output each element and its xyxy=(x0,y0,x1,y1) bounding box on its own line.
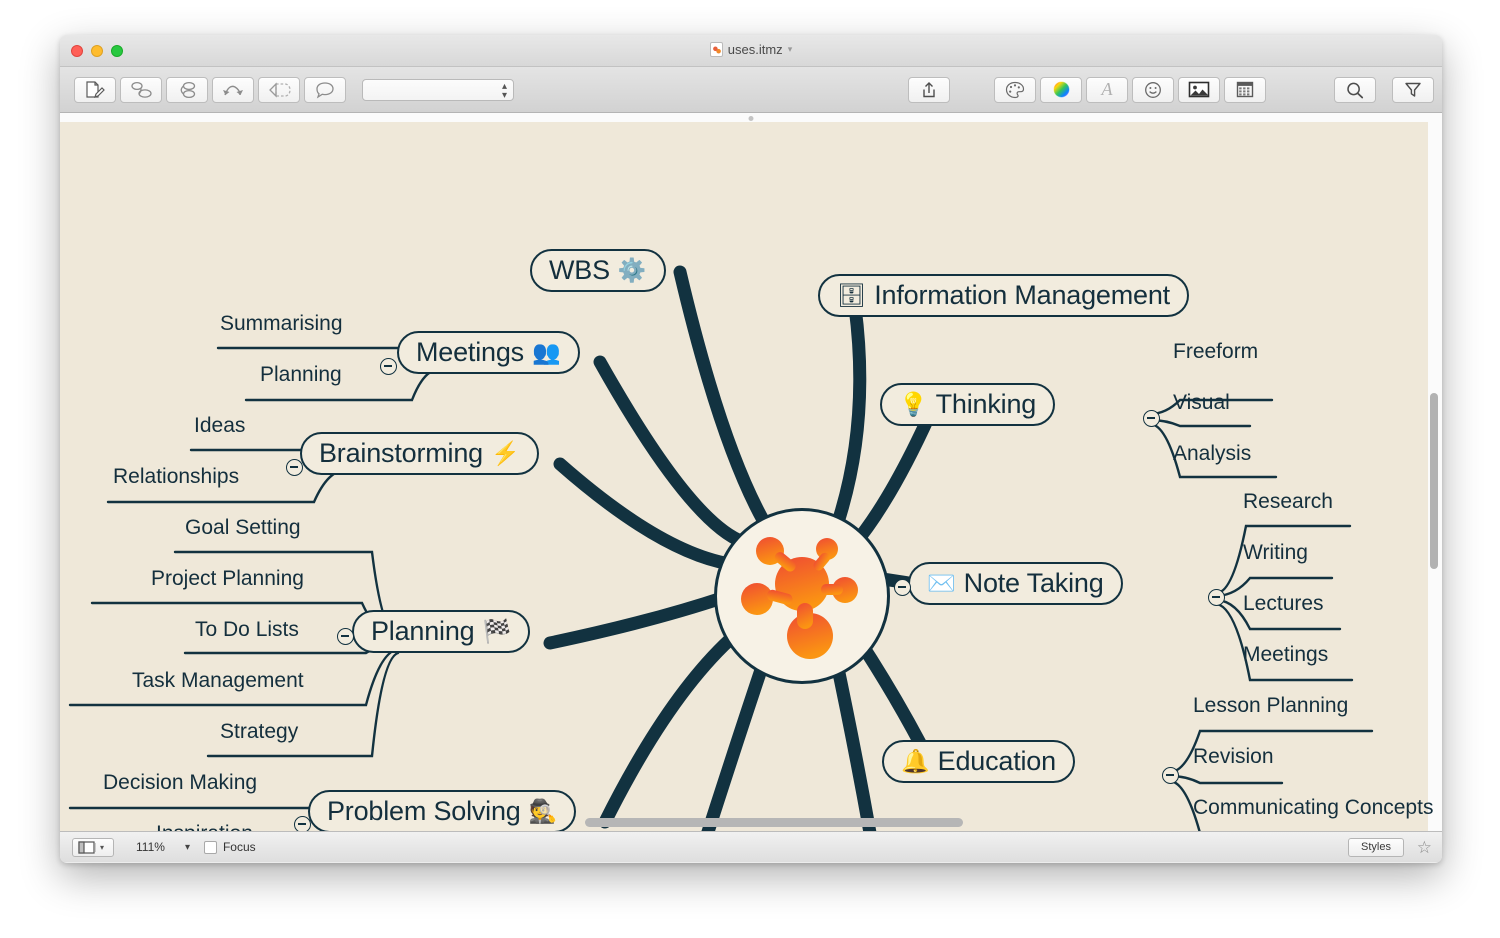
topic-node-planning[interactable]: Planning 🏁 xyxy=(352,610,530,653)
subtopic-goal-setting[interactable]: Goal Setting xyxy=(185,516,301,540)
subtopic-lectures[interactable]: Lectures xyxy=(1243,592,1324,616)
canvas-area[interactable]: WBS ⚙️ Meetings 👥 Summarising Planning B… xyxy=(60,113,1442,831)
topic-node-problem-solving[interactable]: Problem Solving 🕵 xyxy=(308,790,576,831)
topic-node-note-taking[interactable]: ✉️ Note Taking xyxy=(908,562,1123,605)
topic-node-brainstorming[interactable]: Brainstorming ⚡ xyxy=(300,432,539,475)
picture-icon xyxy=(1188,81,1210,98)
topic-label: Brainstorming xyxy=(319,438,483,469)
smiley-icon xyxy=(1144,81,1162,99)
font-a-icon: A xyxy=(1102,79,1113,100)
zoom-level[interactable]: 111% xyxy=(136,840,165,854)
colors-button[interactable] xyxy=(1040,77,1082,103)
collapse-toggle-thinking[interactable] xyxy=(1143,410,1160,427)
itmz-molecule-logo xyxy=(717,511,887,681)
palette-button[interactable] xyxy=(994,77,1036,103)
status-bar: ▾ 111% ▾ Focus Styles ☆ xyxy=(60,831,1442,862)
envelope-icon: ✉️ xyxy=(927,572,956,595)
detective-hat-icon: 🕵 xyxy=(529,800,558,823)
page-title: uses.itmz xyxy=(728,42,783,57)
subtopic-task-management[interactable]: Task Management xyxy=(132,669,304,693)
subtopic-planning[interactable]: Planning xyxy=(260,363,342,387)
itmz-document-icon xyxy=(710,42,723,57)
collapse-toggle-meetings[interactable] xyxy=(380,358,397,375)
topic-node-thinking[interactable]: 💡 Thinking xyxy=(880,383,1055,426)
fonts-button[interactable]: A xyxy=(1086,77,1128,103)
collapse-toggle-brainstorming[interactable] xyxy=(286,459,303,476)
lightbulb-icon: 💡 xyxy=(899,393,928,416)
chevron-down-icon[interactable]: ▾ xyxy=(788,44,793,55)
topic-node-wbs[interactable]: WBS ⚙️ xyxy=(530,249,666,292)
subtopic-writing[interactable]: Writing xyxy=(1243,541,1308,565)
topic-label: Meetings xyxy=(416,337,524,368)
main-toolbar: ▴▾ xyxy=(60,67,1442,113)
collapse-toggle-education[interactable] xyxy=(1162,767,1179,784)
star-icon[interactable]: ☆ xyxy=(1417,839,1432,856)
title-bar: uses.itmz ▾ xyxy=(60,35,1442,67)
topic-label: Education xyxy=(938,746,1056,777)
subtopic-inspiration[interactable]: Inspiration xyxy=(156,822,253,831)
styles-label: Styles xyxy=(1361,841,1391,853)
subtopic-decision-making[interactable]: Decision Making xyxy=(103,771,257,795)
subtopic-summarising[interactable]: Summarising xyxy=(220,312,343,336)
subtopic-meetings[interactable]: Meetings xyxy=(1243,643,1328,667)
subtopic-communicating-concepts[interactable]: Communicating Concepts xyxy=(1193,796,1433,820)
people-icon: 👥 xyxy=(532,341,561,364)
add-subtopic-button[interactable] xyxy=(120,77,162,103)
style-combo[interactable]: ▴▾ xyxy=(362,79,514,101)
subtopic-lesson-planning[interactable]: Lesson Planning xyxy=(1193,694,1348,718)
splitter-handle[interactable] xyxy=(749,116,754,121)
subtopic-relationships[interactable]: Relationships xyxy=(113,465,239,489)
mindmap-canvas[interactable]: WBS ⚙️ Meetings 👥 Summarising Planning B… xyxy=(60,122,1428,831)
topic-label: Planning xyxy=(371,616,475,647)
filter-button[interactable] xyxy=(1392,77,1434,103)
topic-node-information-management[interactable]: 🗄 Information Management xyxy=(818,274,1189,317)
topic-label: Note Taking xyxy=(964,568,1104,599)
root-collapse-toggle[interactable] xyxy=(894,579,911,596)
vertical-scrollbar[interactable] xyxy=(1430,393,1438,569)
add-sibling-button[interactable] xyxy=(166,77,208,103)
subtopic-icon xyxy=(129,81,153,99)
calendar-grid-icon xyxy=(1236,81,1254,98)
focus-label: Focus xyxy=(223,840,256,854)
page-pencil-icon xyxy=(85,81,105,99)
subtopic-project-planning[interactable]: Project Planning xyxy=(151,567,304,591)
image-button[interactable] xyxy=(1178,77,1220,103)
focus-checkbox[interactable] xyxy=(204,841,217,854)
undo-arrow-icon xyxy=(221,81,245,99)
relationship-button[interactable] xyxy=(212,77,254,103)
subtopic-ideas[interactable]: Ideas xyxy=(194,414,245,438)
subtopic-research[interactable]: Research xyxy=(1243,490,1333,514)
note-button[interactable] xyxy=(304,77,346,103)
subtopic-to-do-lists[interactable]: To Do Lists xyxy=(195,618,299,642)
topic-label: Thinking xyxy=(936,389,1036,420)
search-button[interactable] xyxy=(1334,77,1376,103)
collapse-toggle-problem-solving[interactable] xyxy=(294,816,311,831)
chevron-down-icon[interactable]: ▾ xyxy=(95,843,108,852)
panel-layout-icon xyxy=(78,841,95,854)
funnel-icon xyxy=(1404,81,1422,98)
speech-bubble-icon xyxy=(314,81,336,99)
subtopic-analysis[interactable]: Analysis xyxy=(1173,442,1251,466)
styles-button[interactable]: Styles xyxy=(1348,838,1404,857)
gear-icon: ⚙️ xyxy=(618,259,647,282)
table-button[interactable] xyxy=(1224,77,1266,103)
magnifier-icon xyxy=(1345,81,1365,99)
topic-label: Information Management xyxy=(874,280,1170,311)
view-mode-button[interactable]: ▾ xyxy=(72,838,114,857)
sibling-topic-icon xyxy=(175,81,199,99)
collapse-toggle-planning[interactable] xyxy=(337,628,354,645)
subtopic-visual[interactable]: Visual xyxy=(1173,391,1230,415)
chequered-flag-icon: 🏁 xyxy=(483,620,512,643)
database-icon: 🗄 xyxy=(837,284,866,307)
topic-label: WBS xyxy=(549,255,610,286)
subtopic-strategy[interactable]: Strategy xyxy=(220,720,298,744)
emoji-button[interactable] xyxy=(1132,77,1174,103)
color-wheel-icon xyxy=(1052,80,1071,99)
root-topic-node[interactable] xyxy=(714,508,890,684)
share-icon xyxy=(920,81,938,99)
boundary-icon xyxy=(267,81,291,99)
horizontal-scrollbar[interactable] xyxy=(585,818,963,827)
lightning-icon: ⚡ xyxy=(491,442,520,465)
topic-label: Problem Solving xyxy=(327,796,521,827)
collapse-toggle-note-taking[interactable] xyxy=(1208,589,1225,606)
app-window: uses.itmz ▾ xyxy=(60,35,1442,863)
stepper-icon[interactable]: ▴▾ xyxy=(502,82,507,100)
subtopic-freeform[interactable]: Freeform xyxy=(1173,340,1258,364)
boundary-button[interactable] xyxy=(258,77,300,103)
document-title-group[interactable]: uses.itmz ▾ xyxy=(60,42,1442,57)
topic-node-education[interactable]: 🔔 Education xyxy=(882,740,1075,783)
subtopic-revision[interactable]: Revision xyxy=(1193,745,1274,769)
bell-icon: 🔔 xyxy=(901,750,930,773)
new-topic-button[interactable] xyxy=(74,77,116,103)
topic-node-meetings[interactable]: Meetings 👥 xyxy=(397,331,580,374)
zoom-chevron-down-icon[interactable]: ▾ xyxy=(185,842,190,853)
palette-icon xyxy=(1005,81,1025,99)
share-button[interactable] xyxy=(908,77,950,103)
